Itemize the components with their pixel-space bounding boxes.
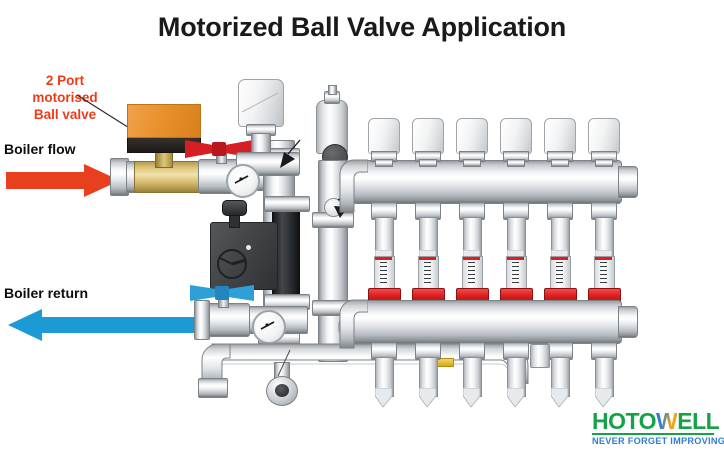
flow-meter-scale — [556, 262, 563, 286]
flow-meter-scale — [468, 262, 475, 286]
outlet-tip — [463, 388, 480, 408]
return-manifold-bar — [352, 300, 622, 344]
flow-meter-indicator — [463, 257, 480, 260]
outlet-tip — [419, 388, 436, 408]
supply-manifold-ports — [352, 118, 620, 164]
supply-manifold-outlets — [352, 200, 620, 260]
flow-meter-scale — [600, 262, 607, 286]
pressure-gauge-return-needle — [252, 310, 282, 340]
flow-meter-scale — [512, 262, 519, 286]
outlet-tip — [551, 388, 568, 408]
valve-cap[interactable] — [544, 118, 576, 154]
pressure-gauge-supply-needle — [226, 164, 256, 194]
return-side-fitting — [530, 344, 550, 368]
circulation-pump-knob[interactable] — [222, 200, 247, 216]
blue-ball-valve-handle[interactable] — [188, 283, 256, 303]
callout-line-1: 2 Port — [10, 72, 120, 89]
flow-meter-indicator — [595, 257, 612, 260]
drain-valve-cap — [275, 384, 289, 397]
flow-meter-indicator — [375, 257, 392, 260]
valve-cap-nut — [595, 159, 613, 167]
valve-cap[interactable] — [368, 118, 400, 154]
flow-meter-indicator — [507, 257, 524, 260]
boiler-flow-label: Boiler flow — [4, 141, 76, 157]
valve-cap[interactable] — [456, 118, 488, 154]
boiler-return-label: Boiler return — [4, 285, 88, 301]
valve-cap-nut — [551, 159, 569, 167]
bottom-left-union — [198, 378, 228, 398]
air-vent-nipple — [328, 85, 337, 95]
valve-cap[interactable] — [412, 118, 444, 154]
flow-meter-indicator — [551, 257, 568, 260]
company-logo: HOTOWELL NEVER FORGET IMPROVING — [592, 409, 716, 446]
boiler-return-arrow — [6, 308, 214, 342]
outlet-tip — [375, 388, 392, 408]
logo-word-part-1: HOTO — [592, 408, 656, 434]
drain-valve-leader — [260, 348, 300, 384]
supply-manifold-end-cap — [618, 166, 638, 198]
blue-ball-valve-inlet-flange — [194, 300, 210, 340]
mixing-valve-pointer — [274, 138, 306, 172]
outlet-tip — [595, 388, 612, 408]
page-title: Motorized Ball Valve Application — [0, 12, 724, 43]
circulation-pump-led — [246, 245, 251, 250]
boiler-flow-arrow — [6, 163, 124, 198]
logo-wordmark: HOTOWELL — [592, 409, 716, 433]
valve-cap-nut — [463, 159, 481, 167]
logo-word-part-3: ELL — [677, 408, 719, 434]
outlet-tip — [507, 388, 524, 408]
valve-cap[interactable] — [588, 118, 620, 154]
logo-tagline: NEVER FORGET IMPROVING — [592, 436, 716, 446]
valve-cap-nut — [507, 159, 525, 167]
circulation-pump-union-top — [264, 196, 310, 212]
return-manifold-end-cap — [618, 306, 638, 338]
logo-word-part-2: W — [656, 408, 677, 434]
flow-meter-scale — [424, 262, 431, 286]
diagram-canvas: Motorized Ball Valve Application 2 Port … — [0, 0, 724, 463]
thermostatic-actuator-seam — [238, 79, 282, 125]
circulation-pump-dial[interactable] — [214, 246, 250, 282]
valve-cap-nut — [419, 159, 437, 167]
valve-cap-nut — [375, 159, 393, 167]
return-manifold-outlets — [352, 340, 620, 400]
flow-meter-scale — [380, 262, 387, 286]
thermostatic-actuator-neck — [251, 133, 271, 153]
flow-meter-indicator — [419, 257, 436, 260]
return-manifold-flowmeters — [352, 252, 620, 302]
motorised-valve-actuator-housing — [127, 104, 201, 138]
valve-cap[interactable] — [500, 118, 532, 154]
